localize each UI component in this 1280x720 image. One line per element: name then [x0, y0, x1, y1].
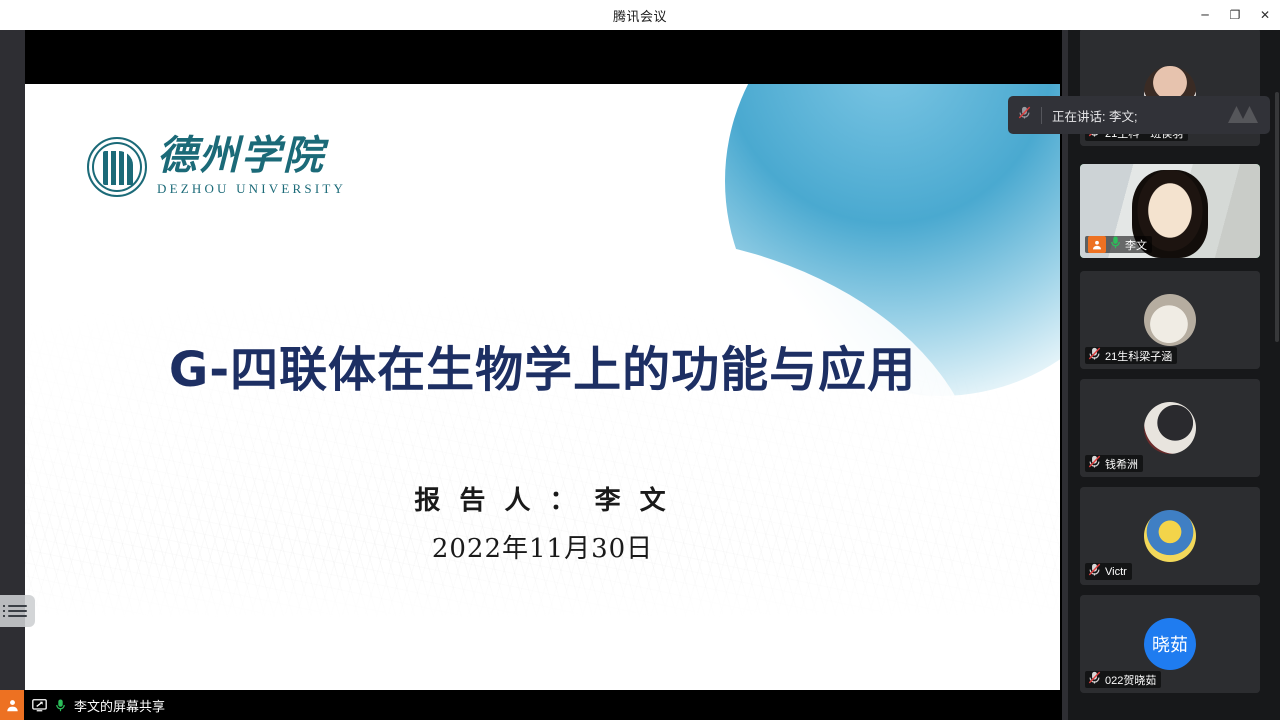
- university-name-en: DEZHOU UNIVERSITY: [157, 181, 346, 197]
- restore-icon: ❐: [1230, 9, 1241, 21]
- host-person-icon: [0, 690, 24, 720]
- slide-date: 2022年11月30日: [25, 528, 1060, 565]
- participant-name: 022贺晓茹: [1105, 672, 1156, 688]
- window-controls: ─ ❐ ✕: [1190, 0, 1280, 30]
- active-speaker-toast: 正在讲话: 李文;: [1008, 96, 1270, 134]
- slide-bottom-fade: [25, 556, 1060, 696]
- participant-tile[interactable]: 21生科梁子涵: [1080, 271, 1260, 369]
- mic-on-icon: [55, 699, 66, 712]
- avatar: [1144, 402, 1196, 454]
- participant-name-bar: Victr: [1085, 563, 1132, 580]
- mic-on-icon: [1110, 236, 1121, 254]
- panel-scrollbar[interactable]: [1275, 32, 1279, 718]
- meeting-body: 德州学院 DEZHOU UNIVERSITY G-四联体在生物学上的功能与应用 …: [0, 30, 1280, 720]
- screen-share-icon: [32, 699, 47, 712]
- minimize-icon: ─: [1201, 9, 1208, 21]
- participant-tile[interactable]: 钱希洲: [1080, 379, 1260, 477]
- participant-name-bar: 李文: [1085, 236, 1152, 253]
- participant-tile-active-speaker[interactable]: 李文: [1080, 164, 1260, 258]
- toast-divider: [1041, 107, 1042, 124]
- participant-name-bar: 022贺晓茹: [1085, 671, 1161, 688]
- participant-name-bar: 21生科梁子涵: [1085, 347, 1177, 364]
- close-button[interactable]: ✕: [1250, 0, 1280, 30]
- restore-button[interactable]: ❐: [1220, 0, 1250, 30]
- panel-scrollbar-thumb[interactable]: [1275, 92, 1279, 342]
- participant-tile[interactable]: 晓茹 022贺晓茹: [1080, 595, 1260, 693]
- mic-muted-icon: [1088, 563, 1101, 581]
- active-speaker-text: 正在讲话: 李文;: [1052, 106, 1137, 125]
- participant-name: 21生科梁子涵: [1105, 348, 1172, 364]
- avatar-initials-text: 晓茹: [1152, 631, 1188, 657]
- participant-name: 钱希洲: [1105, 456, 1138, 472]
- list-menu-button[interactable]: [0, 595, 35, 627]
- share-status-bar: 李文的屏幕共享: [0, 690, 1062, 720]
- close-icon: ✕: [1260, 9, 1270, 21]
- slide-presenter: 报 告 人 ： 李 文: [25, 480, 1060, 517]
- university-seal-icon: [87, 137, 147, 197]
- host-person-icon: [1088, 236, 1106, 253]
- participant-name: Victr: [1105, 566, 1127, 578]
- university-name-cn: 德州学院: [157, 136, 346, 176]
- share-status-text: 李文的屏幕共享: [74, 696, 165, 715]
- collapse-chevrons-icon[interactable]: [1228, 106, 1258, 123]
- minimize-button[interactable]: ─: [1190, 0, 1220, 30]
- slide-title: G-四联体在生物学上的功能与应用: [25, 330, 1060, 400]
- avatar: [1144, 510, 1196, 562]
- participant-name: 李文: [1125, 237, 1147, 253]
- university-logo: 德州学院 DEZHOU UNIVERSITY: [87, 136, 346, 197]
- mic-muted-icon: [1018, 106, 1031, 124]
- mic-muted-icon: [1088, 671, 1101, 689]
- list-menu-icon: [8, 605, 27, 617]
- window-title: 腾讯会议: [613, 6, 667, 25]
- avatar-initials: 晓茹: [1144, 618, 1196, 670]
- participant-name-bar: 钱希洲: [1085, 455, 1143, 472]
- mic-muted-icon: [1088, 347, 1101, 365]
- participant-tile[interactable]: Victr: [1080, 487, 1260, 585]
- avatar: [1144, 294, 1196, 346]
- window-titlebar: 腾讯会议 ─ ❐ ✕: [0, 0, 1280, 30]
- presentation-slide: 德州学院 DEZHOU UNIVERSITY G-四联体在生物学上的功能与应用 …: [25, 84, 1060, 696]
- shared-screen-stage[interactable]: 德州学院 DEZHOU UNIVERSITY G-四联体在生物学上的功能与应用 …: [0, 30, 1062, 690]
- mic-muted-icon: [1088, 455, 1101, 473]
